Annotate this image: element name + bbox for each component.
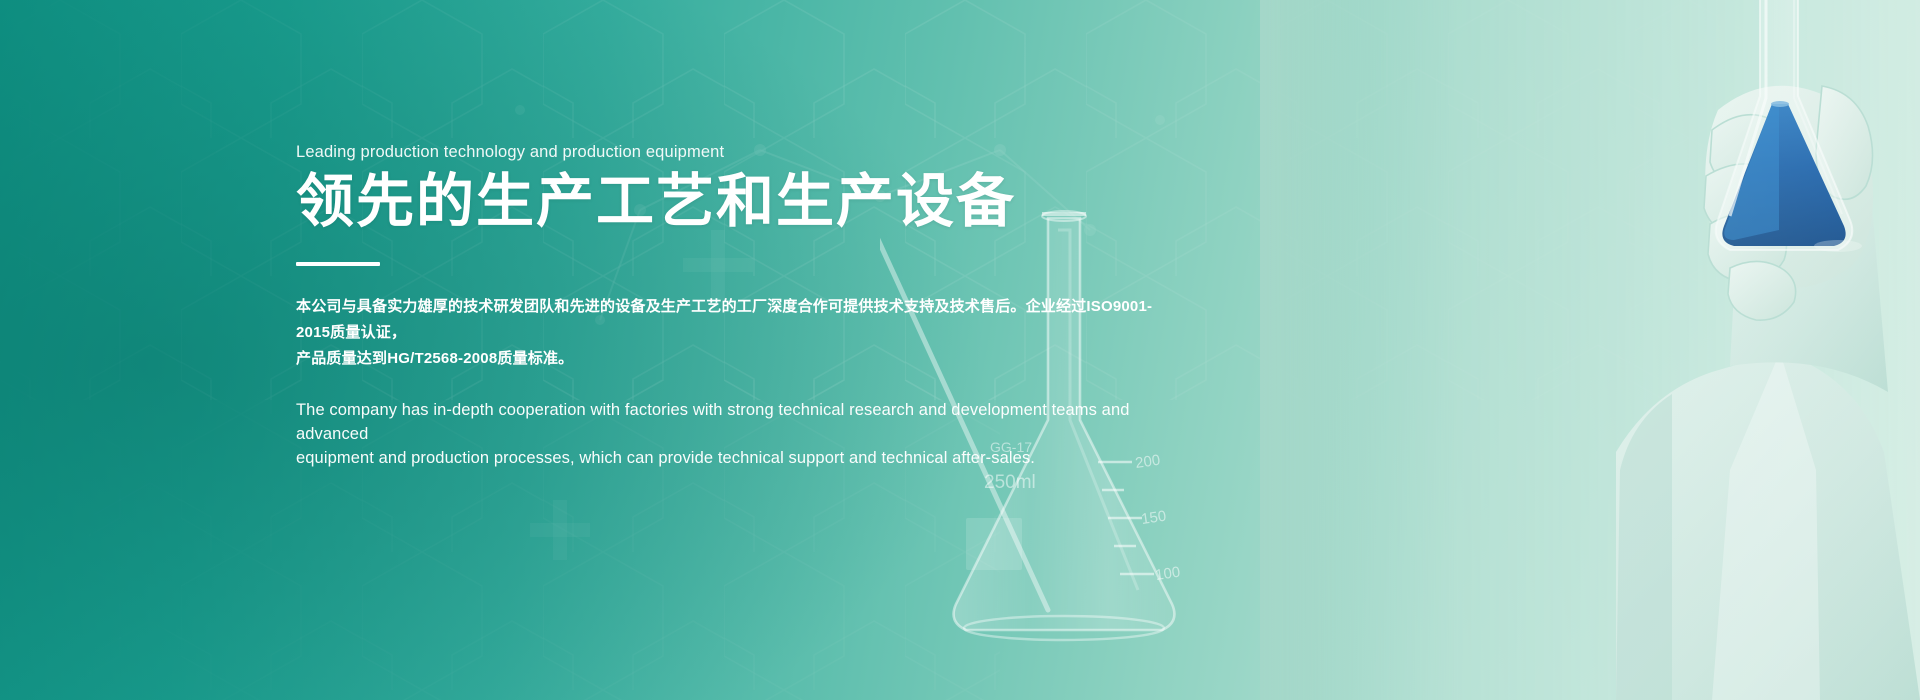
hero-banner: 200 150 100 GG-17 250ml bbox=[0, 0, 1920, 700]
headline-divider bbox=[296, 262, 380, 266]
hero-paragraph-chinese-line-1: 本公司与具备实力雄厚的技术研发团队和先进的设备及生产工艺的工厂深度合作可提供技术… bbox=[296, 294, 1156, 346]
scientist-hand-with-flask-photo bbox=[1260, 0, 1920, 700]
hero-content: Leading production technology and produc… bbox=[296, 142, 1176, 470]
flask-graduation-150-label: 150 bbox=[1140, 508, 1167, 528]
hero-headline: 领先的生产工艺和生产设备 bbox=[296, 170, 1176, 234]
hero-paragraph-english-line-2: equipment and production processes, whic… bbox=[296, 446, 1136, 470]
flask-graduation-100-label: 100 bbox=[1154, 564, 1181, 584]
hero-paragraph-chinese-line-2: 产品质量达到HG/T2568-2008质量标准。 bbox=[296, 346, 1156, 372]
hero-paragraph-english: The company has in-depth cooperation wit… bbox=[296, 398, 1136, 470]
hero-paragraph-chinese: 本公司与具备实力雄厚的技术研发团队和先进的设备及生产工艺的工厂深度合作可提供技术… bbox=[296, 294, 1156, 372]
hero-eyebrow-text: Leading production technology and produc… bbox=[296, 142, 1176, 162]
hero-paragraph-english-line-1: The company has in-depth cooperation wit… bbox=[296, 398, 1136, 446]
